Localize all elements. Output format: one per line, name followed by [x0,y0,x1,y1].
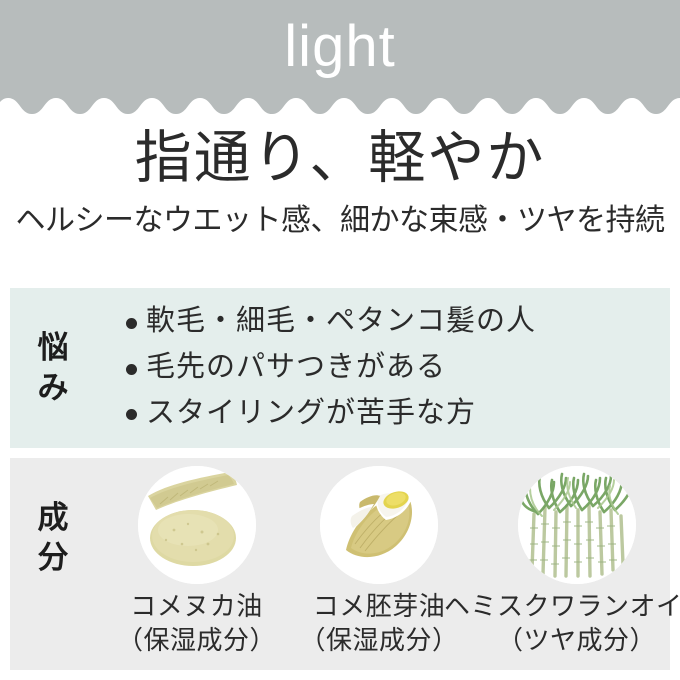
ingredient-function: （保湿成分） [299,624,458,658]
ingredients-label-char-1: 成 [38,498,69,538]
ingredient-caption: コメヌカ油 （保湿成分） [117,590,276,659]
concerns-label-char-2: み [38,368,69,408]
concerns-list: 軟毛・細毛・ペタンコ髪の人 毛先のパサつきがある スタイリングが苦手な方 [96,299,670,436]
header-banner: light [0,0,680,114]
ingredient-name: コメヌカ油 [130,592,263,621]
list-item: スタイリングが苦手な方 [126,391,670,437]
headline-main: 指通り、軽やか [0,126,680,192]
list-item: 毛先のパサつきがある [126,345,670,391]
ingredients-row: コメヌカ油 （保湿成分） [96,458,680,659]
ingredient-function: （保湿成分） [117,624,276,658]
rice-germ-icon [320,466,438,584]
headline-sub: ヘルシーなウエット感、細かな束感・ツヤを持続 [0,203,680,239]
wave-divider [0,96,680,116]
concern-text: 軟毛・細毛・ペタンコ髪の人 [146,299,536,345]
ingredient-item: コメヌカ油 （保湿成分） [104,466,289,659]
list-item: 軟毛・細毛・ペタンコ髪の人 [126,299,670,345]
bullet-icon [126,364,137,375]
headline-block: 指通り、軽やか ヘルシーなウエット感、細かな束感・ツヤを持続 [0,126,680,239]
header-title: light [0,0,680,98]
ingredient-name: ヘミスクワランオイル [444,592,680,621]
concerns-panel: 悩 み 軟毛・細毛・ペタンコ髪の人 毛先のパサつきがある スタイリングが苦手な方 [10,288,670,448]
concern-text: スタイリングが苦手な方 [146,391,476,437]
concern-text: 毛先のパサつきがある [146,345,446,391]
ingredient-name: コメ胚芽油 [313,592,446,621]
ingredient-item: コメ胚芽油 （保湿成分） [289,466,469,659]
ingredient-function: （ツヤ成分） [444,624,680,658]
concerns-label-char-1: 悩 [38,328,69,368]
ingredient-caption: コメ胚芽油 （保湿成分） [299,590,458,659]
ingredient-caption: ヘミスクワランオイル （ツヤ成分） [444,590,680,659]
ingredients-panel: 成 分 [10,458,670,670]
ingredients-label-char-2: 分 [38,538,69,578]
ingredient-item: ヘミスクワランオイル （ツヤ成分） [469,466,680,659]
sugarcane-icon [518,466,636,584]
bullet-icon [126,318,137,329]
concerns-label: 悩 み [10,328,96,407]
bullet-icon [126,409,137,420]
ingredients-label: 成 分 [10,458,96,618]
rice-bran-icon [138,466,256,584]
